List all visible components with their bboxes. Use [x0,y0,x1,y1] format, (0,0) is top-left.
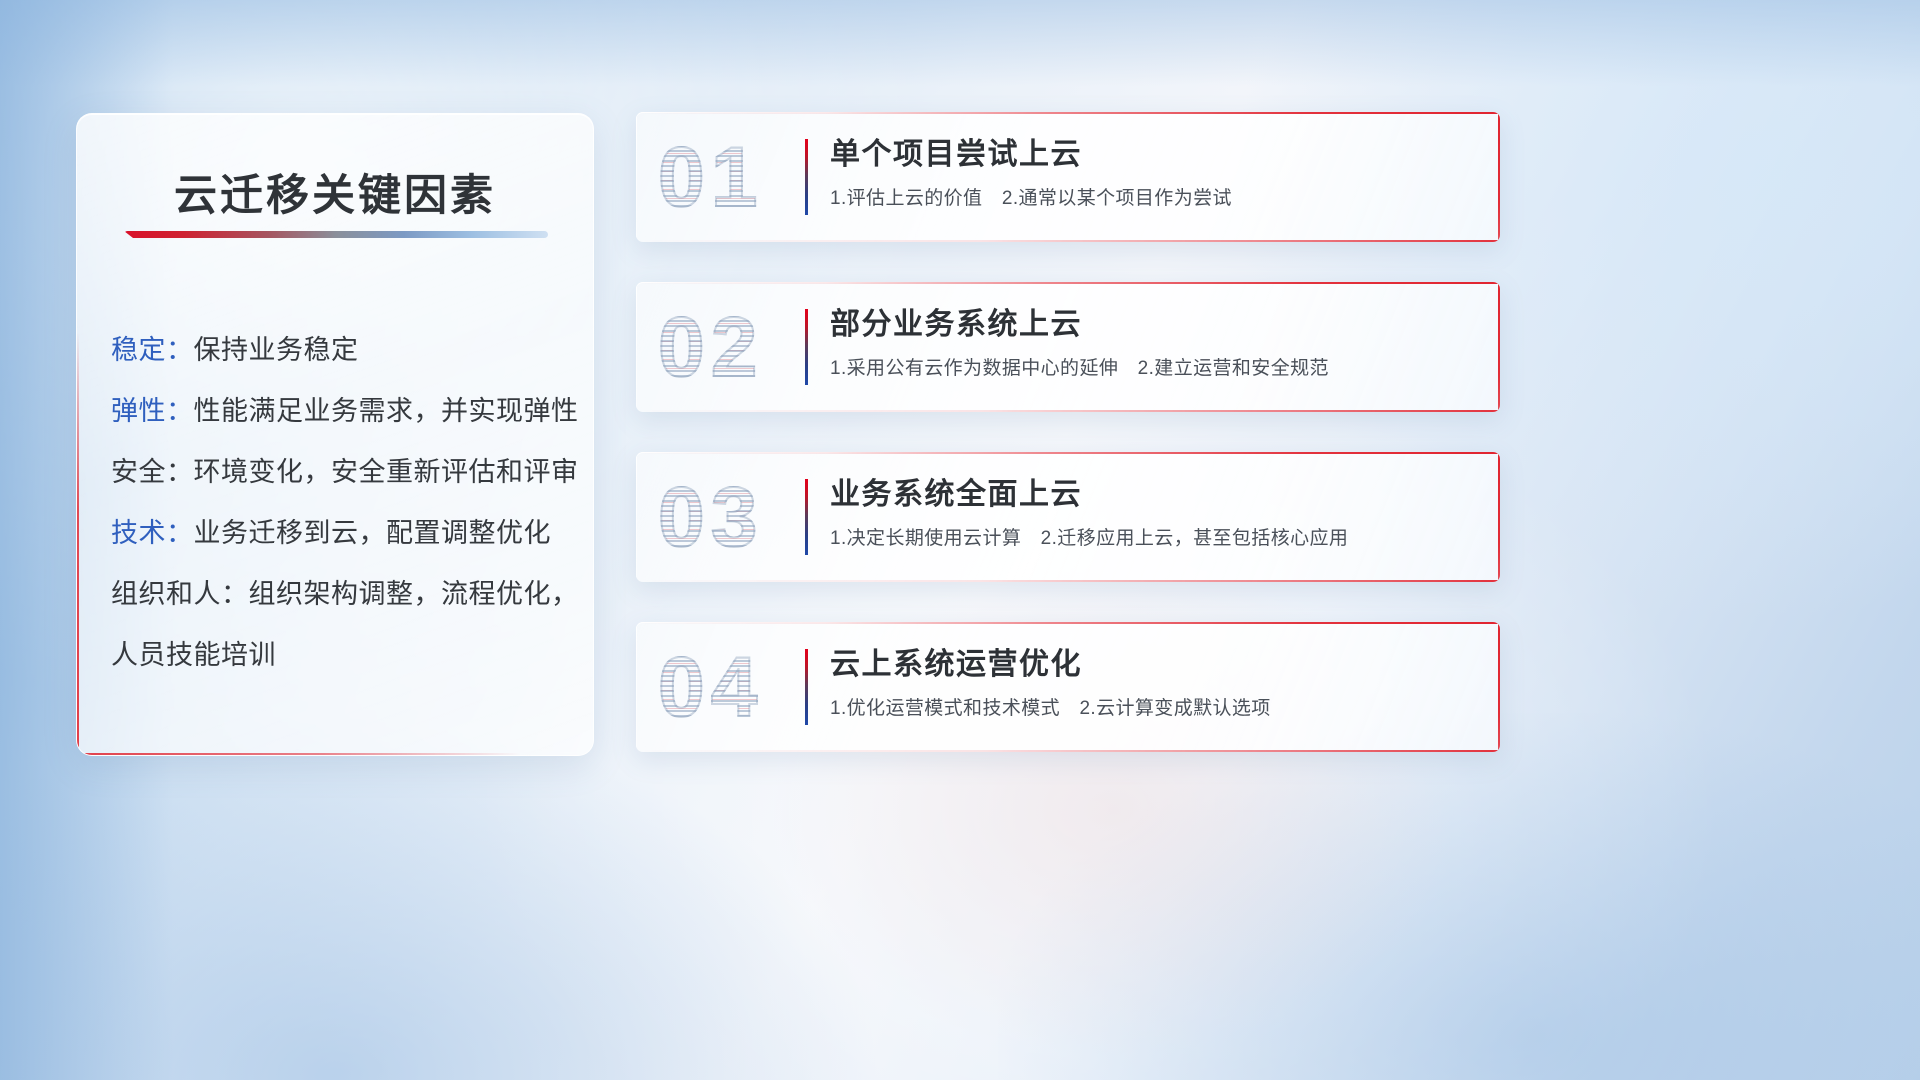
step-divider-bar [805,479,808,555]
step-number: 03 [658,475,763,559]
card-bottom-accent-line [636,410,1500,412]
list-item-content: 保持业务稳定 [194,335,359,365]
card-bottom-accent-line [636,240,1500,242]
card-right-accent-line [1498,622,1500,752]
step-subtitle: 1.采用公有云作为数据中心的延伸 2.建立运营和安全规范 [830,357,1474,382]
card-right-accent-line [1498,452,1500,582]
step-divider-bar [805,309,808,385]
step-card[interactable]: 02 02 部分业务系统上云 1.采用公有云作为数据中心的延伸 2.建立运营和安… [636,282,1500,412]
card-right-accent-line [1498,282,1500,412]
step-text-block: 云上系统运营优化 1.优化运营模式和技术模式 2.云计算变成默认选项 [830,646,1474,721]
step-text-block: 业务系统全面上云 1.决定长期使用云计算 2.迁移应用上云，甚至包括核心应用 [830,476,1474,551]
card-left-highlight-line [636,622,637,752]
card-bottom-accent-line [636,580,1500,582]
card-bottom-accent-line [636,750,1500,752]
list-item-content: 性能满足业务需求，并实现弹性 [194,396,579,426]
step-heading: 云上系统运营优化 [830,646,1474,684]
card-top-accent-line [636,282,1500,284]
list-item-label: 安全： [111,457,194,487]
list-item-label: 弹性： [111,396,194,426]
list-item-content: 业务迁移到云，配置调整优化 [194,518,552,548]
step-card[interactable]: 04 04 云上系统运营优化 1.优化运营模式和技术模式 2.云计算变成默认选项 [636,622,1500,752]
slide-content: 云迁移关键因素 稳定：保持业务稳定 弹性：性能满足业务需求，并实现弹性 安全：环… [0,0,1920,1080]
panel-title: 云迁移关键因素 [77,161,593,223]
step-number: 02 [658,305,763,389]
step-subtitle: 1.评估上云的价值 2.通常以某个项目作为尝试 [830,187,1474,212]
step-number: 04 [658,645,763,729]
step-number: 01 [658,135,763,219]
key-factors-list: 稳定：保持业务稳定 弹性：性能满足业务需求，并实现弹性 安全：环境变化，安全重新… [111,320,571,686]
card-left-highlight-line [636,452,637,582]
step-heading: 单个项目尝试上云 [830,136,1474,174]
title-underline-bar [124,231,548,238]
step-card[interactable]: 01 01 单个项目尝试上云 1.评估上云的价值 2.通常以某个项目作为尝试 [636,112,1500,242]
step-divider-bar [805,139,808,215]
list-item-content: 环境变化，安全重新评估和评审 [194,457,579,487]
step-heading: 业务系统全面上云 [830,476,1474,514]
card-top-accent-line [636,622,1500,624]
list-item-label: 技术： [111,518,194,548]
key-factors-panel: 云迁移关键因素 稳定：保持业务稳定 弹性：性能满足业务需求，并实现弹性 安全：环… [76,113,594,756]
list-item: 技术：业务迁移到云，配置调整优化 [111,503,571,564]
card-top-accent-line [636,452,1500,454]
card-right-accent-line [1498,112,1500,242]
step-card[interactable]: 03 03 业务系统全面上云 1.决定长期使用云计算 2.迁移应用上云，甚至包括… [636,452,1500,582]
step-text-block: 单个项目尝试上云 1.评估上云的价值 2.通常以某个项目作为尝试 [830,136,1474,211]
card-left-highlight-line [636,282,637,412]
step-subtitle: 1.决定长期使用云计算 2.迁移应用上云，甚至包括核心应用 [830,527,1474,552]
list-item: 稳定：保持业务稳定 [111,320,571,381]
step-text-block: 部分业务系统上云 1.采用公有云作为数据中心的延伸 2.建立运营和安全规范 [830,306,1474,381]
list-item: 组织和人：组织架构调整，流程优化， [111,564,571,625]
step-divider-bar [805,649,808,725]
list-item: 弹性：性能满足业务需求，并实现弹性 [111,381,571,442]
list-item: 安全：环境变化，安全重新评估和评审 [111,442,571,503]
card-top-accent-line [636,112,1500,114]
card-left-highlight-line [636,112,637,242]
list-item-label: 组织和人： [111,579,249,609]
list-item-content: 组织架构调整，流程优化， [249,579,579,609]
list-item-content: 人员技能培训 [111,640,276,670]
list-item-label: 稳定： [111,335,194,365]
migration-steps-list: 01 01 单个项目尝试上云 1.评估上云的价值 2.通常以某个项目作为尝试 0… [636,112,1500,752]
step-subtitle: 1.优化运营模式和技术模式 2.云计算变成默认选项 [830,697,1474,722]
list-item-continuation: 人员技能培训 [111,625,571,686]
step-heading: 部分业务系统上云 [830,306,1474,344]
